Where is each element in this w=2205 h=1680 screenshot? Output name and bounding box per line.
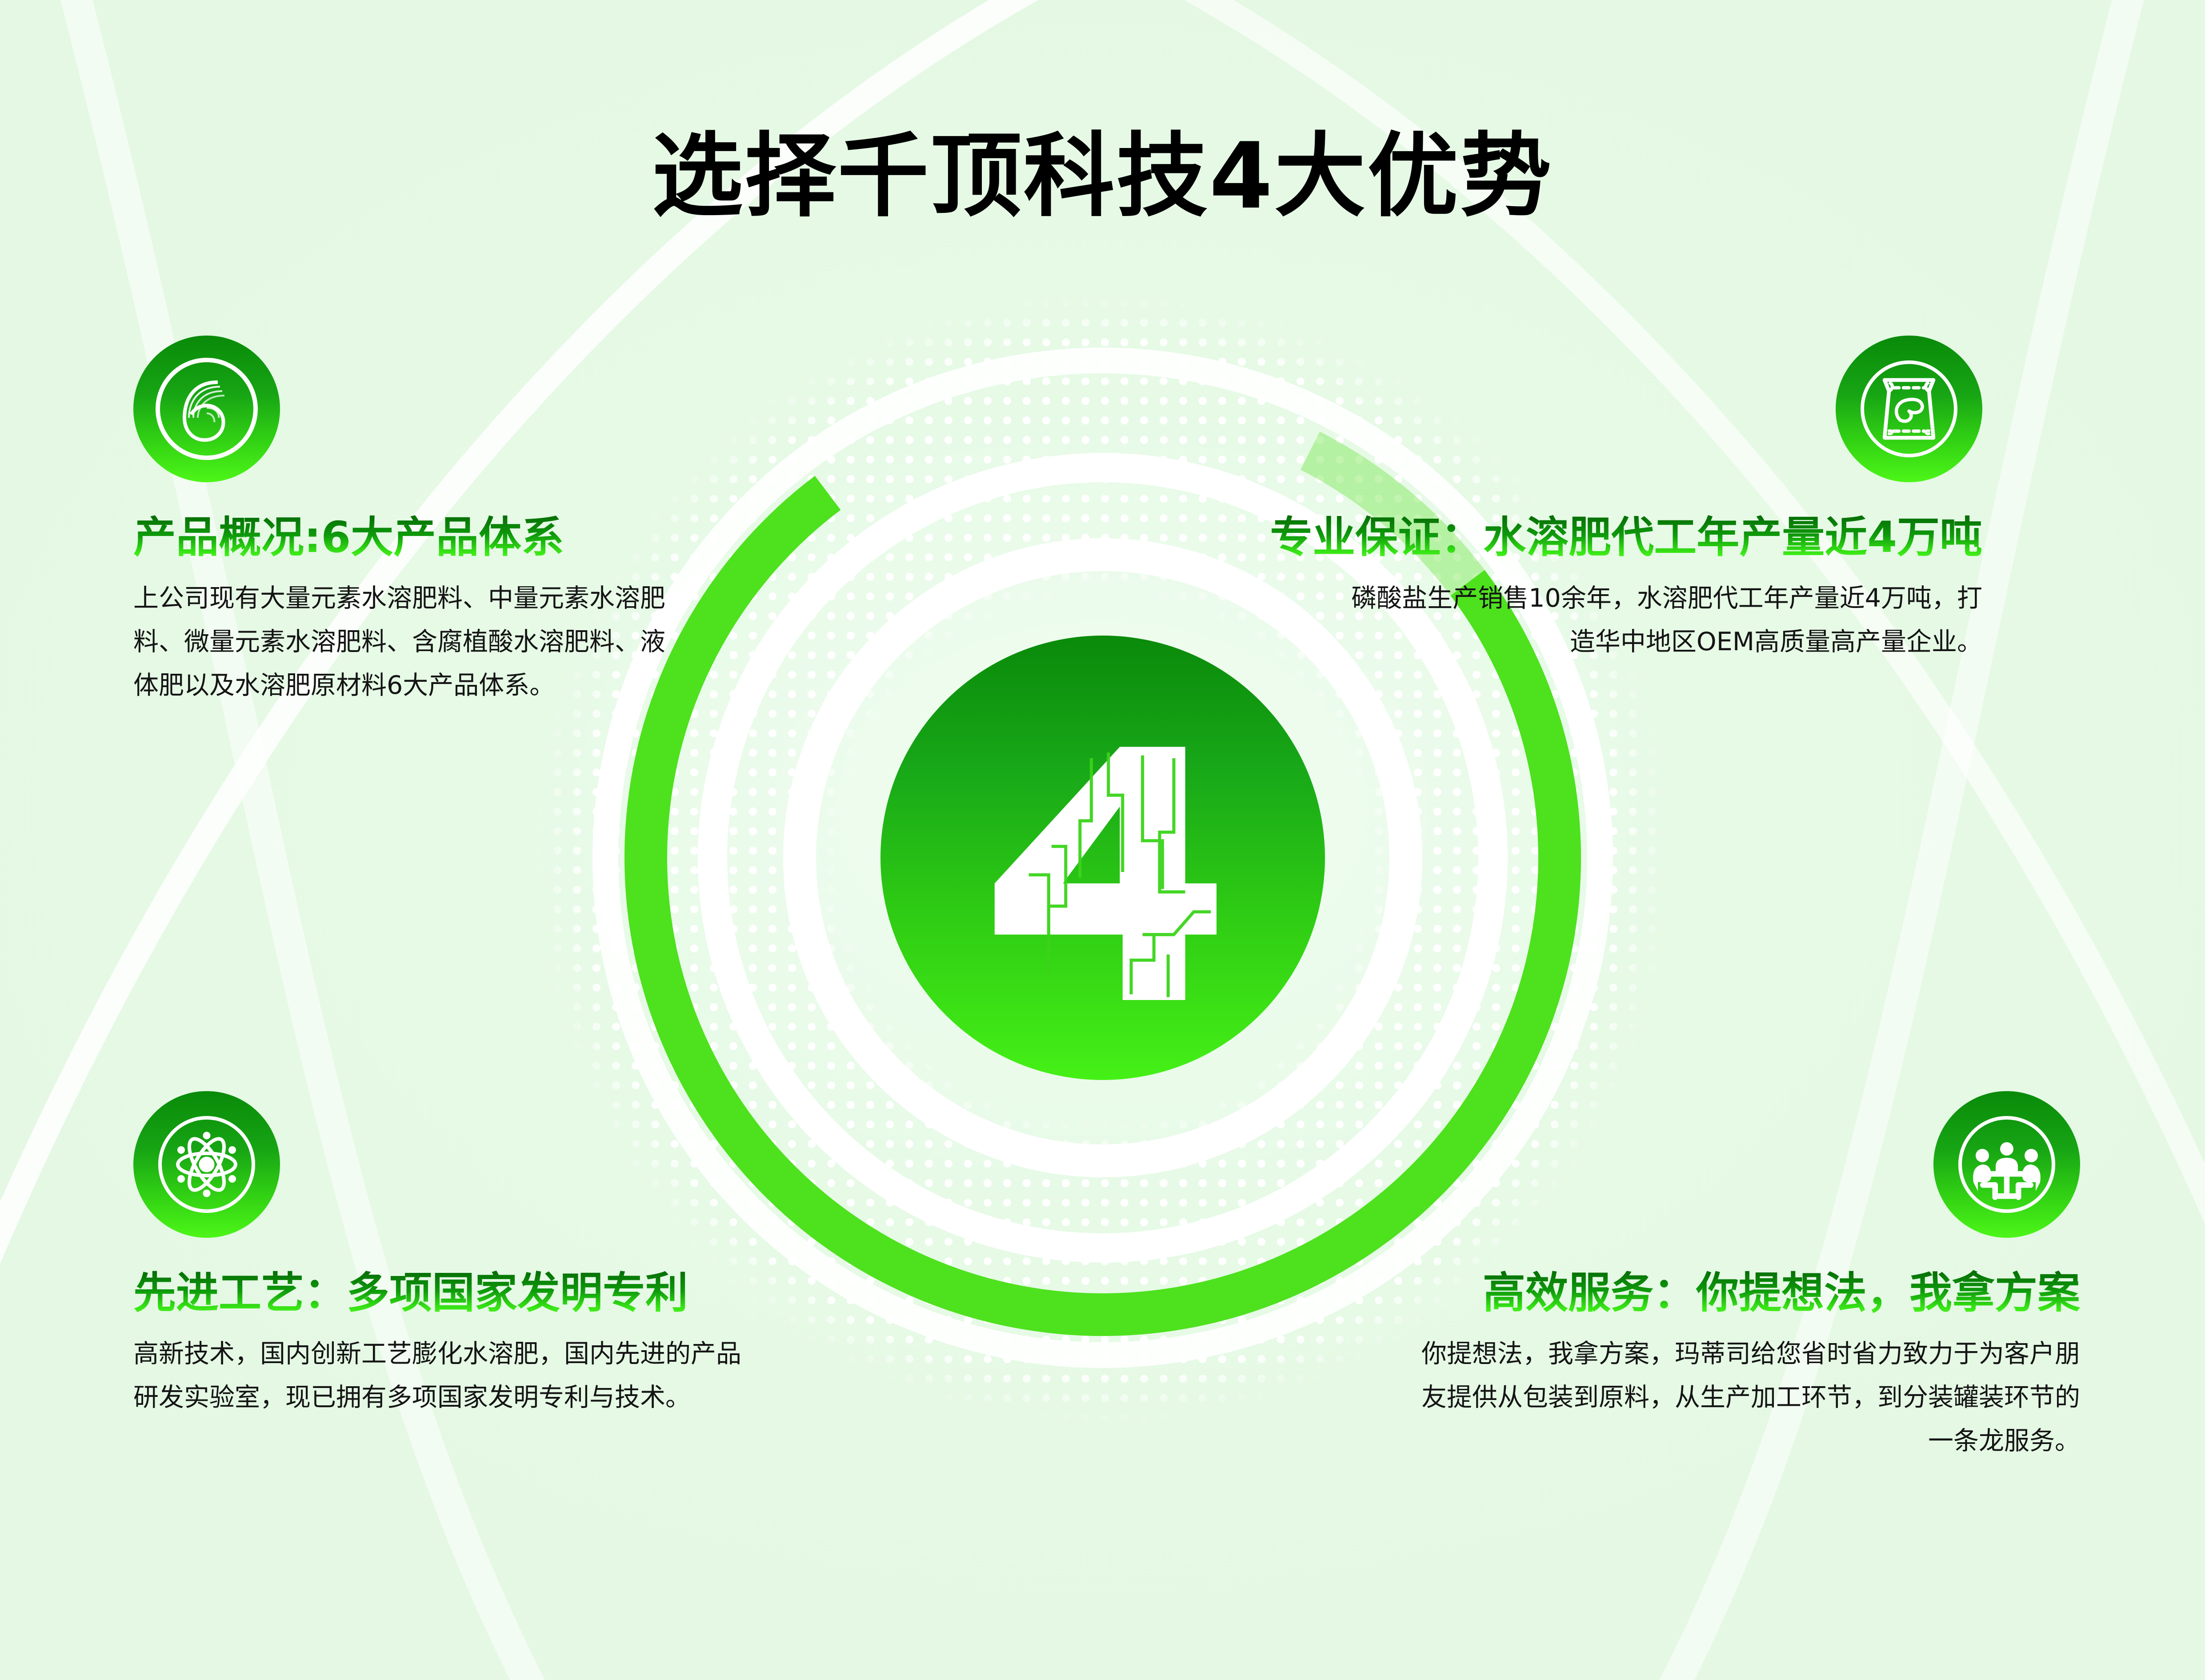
advantage-card-top-left: 产品概况:6大产品体系 上公司现有大量元素水溶肥料、中量元素水溶肥料、微量元素水… (133, 336, 747, 707)
infographic-stage: 选择千顶科技4大优势 产品概况:6大产品体系 上公司现有大量元素水溶肥料、中量元… (0, 0, 2205, 1680)
card-heading: 高效服务：你提想法，我拿方案 (1307, 1270, 2080, 1317)
card-heading: 专业保证：水溶肥代工年产量近4万吨 (1209, 514, 1982, 561)
center-number-four-icon (960, 716, 1245, 1000)
card-body-text: 上公司现有大量元素水溶肥料、中量元素水溶肥料、微量元素水溶肥料、含腐植酸水溶肥料… (133, 576, 684, 707)
card-heading: 产品概况:6大产品体系 (133, 514, 747, 561)
fertilizer-bag-icon (1836, 336, 1982, 482)
page-title: 选择千顶科技4大优势 (0, 102, 2205, 234)
card-body-text: 高新技术，国内创新工艺膨化水溶肥，国内先进的产品研发实验室，现已拥有多项国家发明… (133, 1332, 747, 1419)
number-six-circle-icon (133, 336, 280, 482)
advantage-card-top-right: 专业保证：水溶肥代工年产量近4万吨 磷酸盐生产销售10余年，水溶肥代工年产量近4… (1209, 336, 1982, 664)
advantage-card-bottom-right: 高效服务：你提想法，我拿方案 你提想法，我拿方案，玛蒂司给您省时省力致力于为客户… (1307, 1091, 2080, 1463)
card-heading: 先进工艺：多项国家发明专利 (133, 1270, 747, 1317)
advantage-card-bottom-left: 先进工艺：多项国家发明专利 高新技术，国内创新工艺膨化水溶肥，国内先进的产品研发… (133, 1091, 747, 1419)
card-body-text: 你提想法，我拿方案，玛蒂司给您省时省力致力于为客户朋友提供从包装到原料，从生产加… (1413, 1332, 2080, 1463)
center-medallion (880, 636, 1325, 1080)
meeting-table-icon (1933, 1091, 2080, 1238)
atom-icon (133, 1091, 280, 1238)
card-body-text: 磷酸盐生产销售10余年，水溶肥代工年产量近4万吨，打造华中地区OEM高质量高产量… (1347, 576, 1982, 664)
